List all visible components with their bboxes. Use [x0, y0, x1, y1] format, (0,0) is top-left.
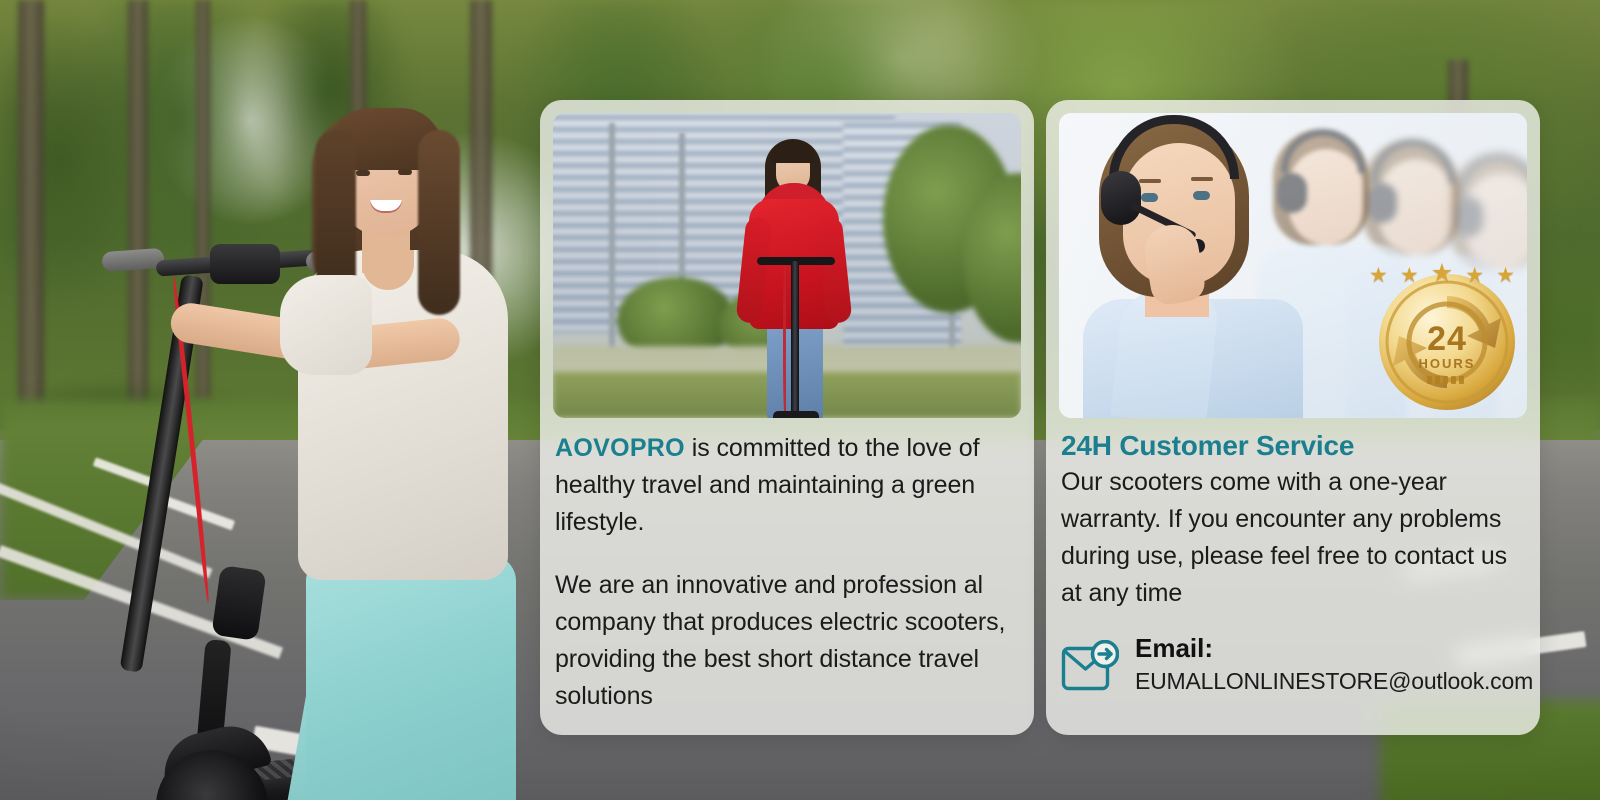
headset-band — [1109, 115, 1239, 179]
svg-text:24: 24 — [1427, 320, 1467, 358]
about-card-body: AOVOPRO is committed to the love of heal… — [553, 418, 1021, 715]
email-label: Email: — [1135, 634, 1533, 664]
headset-earcup — [1101, 171, 1141, 225]
hoodie-rider-figure — [739, 139, 849, 418]
service-card-photo: ★ ★ ★ ★ ★ — [1059, 113, 1527, 418]
email-address[interactable]: EUMALLONLINESTORE@outlook.com — [1135, 667, 1533, 697]
photo-scooter-deck — [773, 411, 819, 418]
agent-headset-earcup — [1277, 173, 1307, 213]
rider-figure — [130, 100, 550, 800]
call-center-agent-photo: ★ ★ ★ ★ ★ — [1059, 113, 1527, 418]
star-icon: ★ — [1369, 265, 1388, 286]
service-card-body: 24H Customer Service Our scooters come w… — [1059, 418, 1527, 697]
hoodie-rider-fringe — [771, 141, 815, 163]
badge-star-row: ★ ★ ★ ★ ★ — [1369, 258, 1515, 286]
about-paragraph-1: AOVOPRO is committed to the love of heal… — [555, 430, 1019, 541]
email-block: Email: EUMALLONLINESTORE@outlook.com — [1061, 634, 1525, 697]
email-send-icon — [1061, 640, 1119, 697]
star-icon: ★ — [1496, 265, 1515, 286]
rider-sleeve — [280, 275, 372, 375]
about-paragraph-2: We are an innovative and profession al c… — [555, 567, 1019, 715]
24-hours-gold-badge: ★ ★ ★ ★ ★ — [1369, 262, 1521, 414]
photo-scooter-stem — [791, 261, 799, 418]
agent-eye-left — [1141, 193, 1158, 202]
star-icon: ★ — [1431, 261, 1453, 286]
tree-trunk — [18, 0, 44, 420]
photo-scooter-cable — [783, 265, 787, 415]
brand-name: AOVOPRO — [555, 434, 685, 462]
agent-eye-right — [1193, 191, 1210, 200]
star-icon: ★ — [1400, 265, 1419, 286]
service-heading: 24H Customer Service — [1061, 430, 1525, 462]
service-paragraph: Our scooters come with a one-year warran… — [1061, 464, 1525, 612]
agent-brow-left — [1139, 179, 1161, 183]
about-card: AOVOPRO is committed to the love of heal… — [540, 100, 1034, 735]
agent-headset-band — [1281, 129, 1365, 173]
rider-trousers — [306, 555, 516, 800]
red-hoodie-rider-photo — [553, 113, 1021, 418]
street-pole — [609, 123, 615, 373]
about-card-photo — [553, 113, 1021, 418]
rider-hair-right — [418, 130, 460, 315]
svg-text:HOURS: HOURS — [1419, 356, 1476, 371]
email-text-block: Email: EUMALLONLINESTORE@outlook.com — [1135, 634, 1533, 697]
rider-eye-left — [356, 170, 370, 176]
service-card: ★ ★ ★ ★ ★ — [1046, 100, 1540, 735]
star-icon: ★ — [1465, 265, 1484, 286]
